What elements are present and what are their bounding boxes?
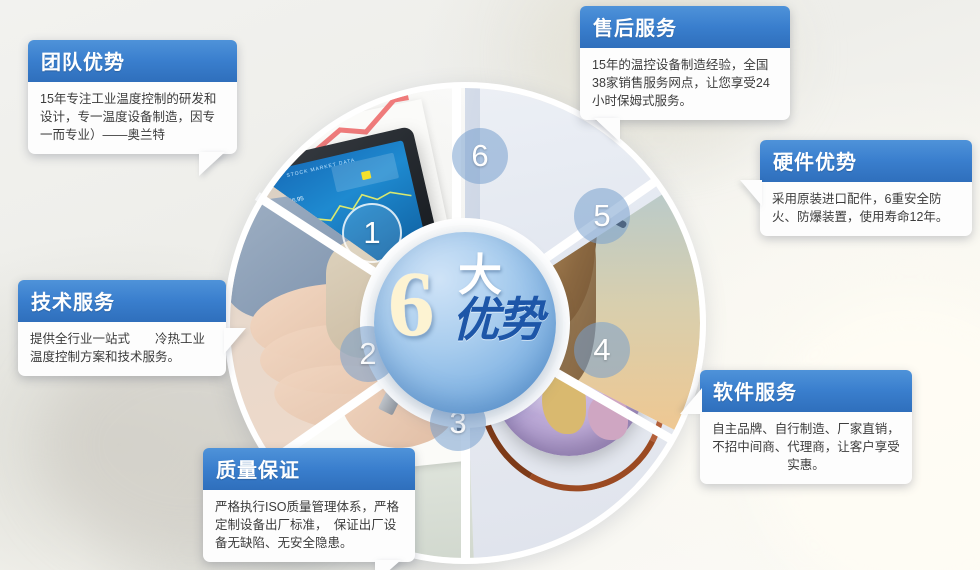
center-big-char: 大 [458,254,502,298]
card-tail [594,118,620,142]
infographic-poster: STOCK MARKET DATA INTC 446.95 [0,0,980,570]
card-quality[interactable]: 质量保证 严格执行ISO质量管理体系，严格定制设备出厂标准， 保证出厂设备无缺陷… [203,448,415,562]
card-after-sales[interactable]: 售后服务 15年的温控设备制造经验，全国38家销售服务网点，让您享受24小时保姆… [580,6,790,120]
card-tail [680,388,702,414]
card-tail [740,180,762,206]
card-technical-body: 提供全行业一站式 冷热工业温度控制方案和技术服务。 [18,322,226,376]
wedge-number-4[interactable]: 4 [574,322,630,378]
card-hardware[interactable]: 硬件优势 采用原装进口配件，6重安全防火、防爆装置，使用寿命12年。 [760,140,972,236]
card-team[interactable]: 团队优势 15年专注工业温度控制的研发和设计，专一温度设备制造，因专一而专业）—… [28,40,237,154]
card-after-sales-body: 15年的温控设备制造经验，全国38家销售服务网点，让您享受24小时保姆式服务。 [580,48,790,120]
card-team-title: 团队优势 [28,40,237,82]
card-hardware-title: 硬件优势 [760,140,972,182]
center-word: 优势 [452,296,542,343]
wedge-number-6[interactable]: 6 [452,128,508,184]
card-software-title: 软件服务 [700,370,912,412]
card-after-sales-title: 售后服务 [580,6,790,48]
center-badge[interactable]: 6 大 优势 [374,232,556,414]
card-quality-body: 严格执行ISO质量管理体系，严格定制设备出厂标准， 保证出厂设备无缺陷、无安全隐… [203,490,415,562]
card-technical-title: 技术服务 [18,280,226,322]
wedge-number-5[interactable]: 5 [574,188,630,244]
card-quality-title: 质量保证 [203,448,415,490]
card-software-body: 自主品牌、自行制造、厂家直销，不招中间商、代理商，让客户享受实惠。 [700,412,912,484]
card-tail [199,152,225,176]
card-technical[interactable]: 技术服务 提供全行业一站式 冷热工业温度控制方案和技术服务。 [18,280,226,376]
card-hardware-body: 采用原装进口配件，6重安全防火、防爆装置，使用寿命12年。 [760,182,972,236]
card-software[interactable]: 软件服务 自主品牌、自行制造、厂家直销，不招中间商、代理商，让客户享受实惠。 [700,370,912,484]
card-tail [224,328,246,354]
center-number: 6 [388,258,435,351]
card-team-body: 15年专注工业温度控制的研发和设计，专一温度设备制造，因专一而专业）——奥兰特 [28,82,237,154]
card-tail [375,560,401,570]
